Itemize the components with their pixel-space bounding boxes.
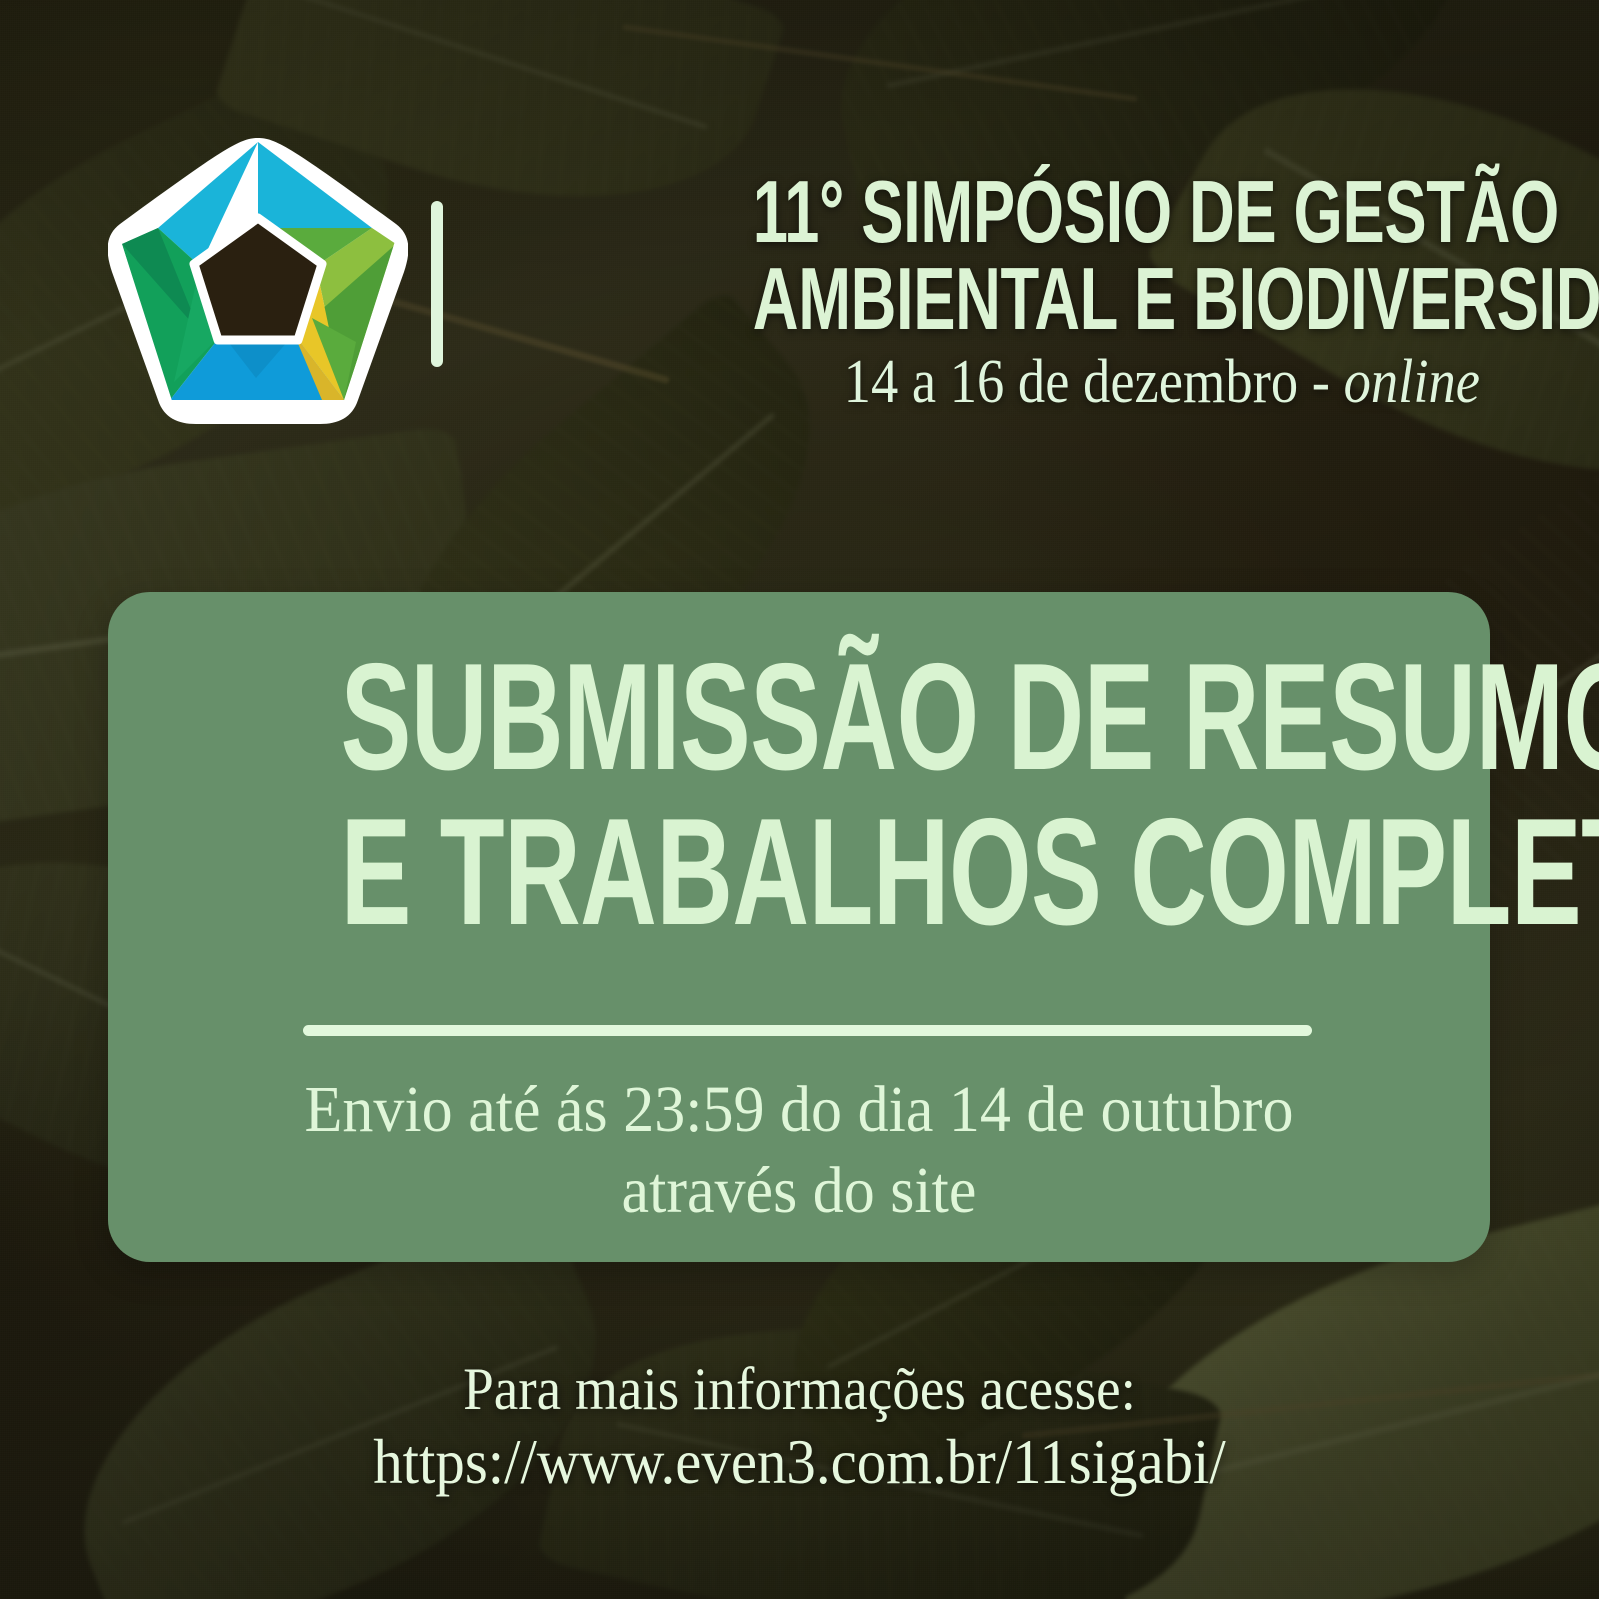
sigabi-pentagon-logo-icon [108,132,408,428]
event-title-line-2: AMBIENTAL E BIODIVERSIDADE [753,255,1480,342]
submission-heading-line-1: SUBMISSÃO DE RESUMOS [341,640,1258,795]
submission-heading-line-2: E TRABALHOS COMPLETOS [341,795,1258,950]
poster-header: 11° SIMPÓSIO DE GESTÃO AMBIENTAL E BIODI… [0,0,1599,470]
header-vertical-divider [431,201,443,367]
event-date-text: 14 a 16 de dezembro - [844,348,1344,416]
event-modality-online: online [1344,348,1480,416]
poster-footer: Para mais informações acesse: https://ww… [0,1355,1599,1499]
event-website-url[interactable]: https://www.even3.com.br/11sigabi/ [64,1425,1535,1499]
submission-deadline-text: Envio até ás 23:59 do dia 14 de outubro … [149,1070,1448,1231]
event-poster: 11° SIMPÓSIO DE GESTÃO AMBIENTAL E BIODI… [0,0,1599,1599]
event-title-line-1: 11° SIMPÓSIO DE GESTÃO [753,168,1480,255]
submission-card: SUBMISSÃO DE RESUMOS E TRABALHOS COMPLET… [108,592,1490,1262]
submission-card-heading: SUBMISSÃO DE RESUMOS E TRABALHOS COMPLET… [108,640,1490,950]
event-date-line: 14 a 16 de dezembro - online [591,350,1480,415]
event-title-block: 11° SIMPÓSIO DE GESTÃO AMBIENTAL E BIODI… [470,168,1480,415]
more-info-label: Para mais informações acesse: [64,1355,1535,1425]
submission-card-divider [303,1025,1312,1036]
